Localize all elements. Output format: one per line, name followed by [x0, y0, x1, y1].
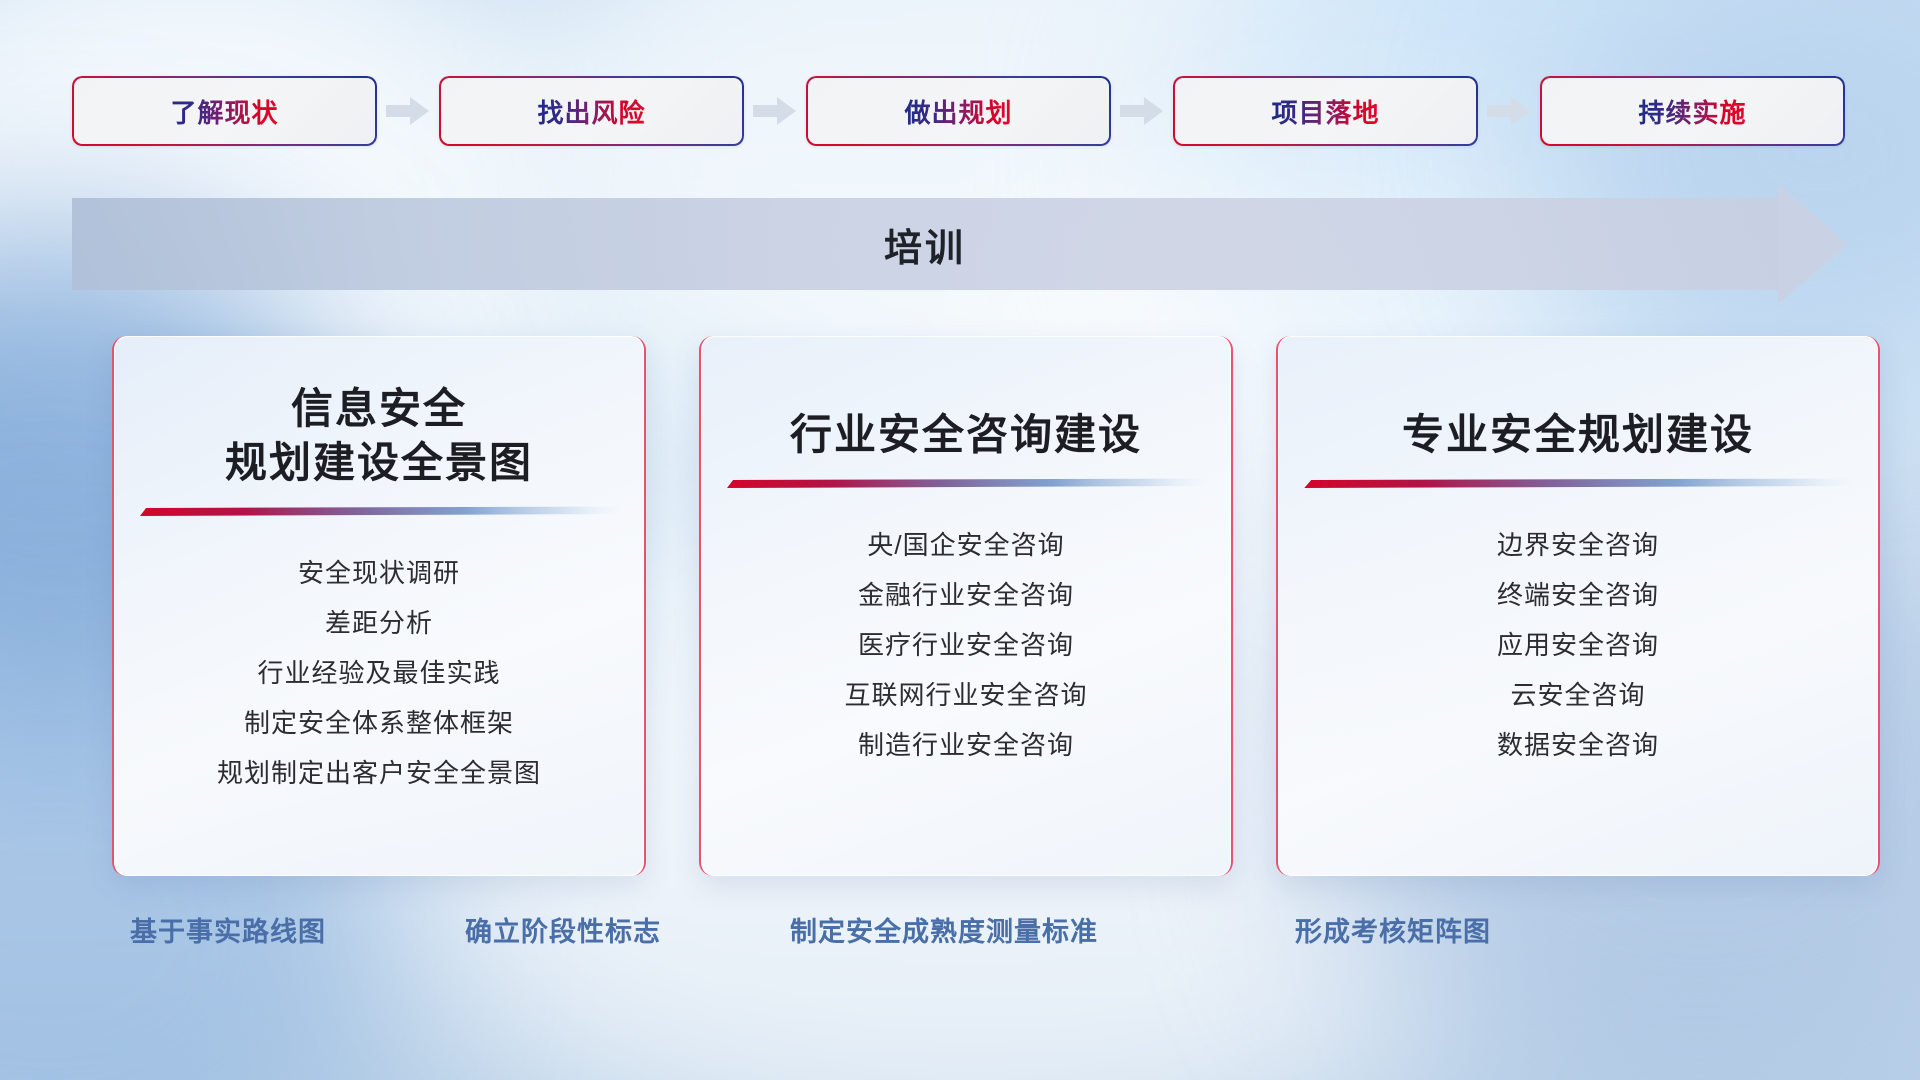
process-step-4[interactable]: 持续实施 [1540, 76, 1845, 146]
card-title: 行业安全咨询建设 [701, 336, 1231, 462]
gradient-divider-icon [1278, 462, 1878, 506]
card-title: 专业安全规划建设 [1278, 336, 1878, 462]
process-step-3[interactable]: 项目落地 [1173, 76, 1478, 146]
card-item-list: 央/国企安全咨询 金融行业安全咨询 医疗行业安全咨询 互联网行业安全咨询 制造行… [701, 506, 1231, 770]
card-information-security-blueprint[interactable]: 信息安全 规划建设全景图 安全现状调研 差 [112, 336, 646, 876]
process-step-label: 持续实施 [1638, 93, 1746, 130]
band-arrow-tip-icon [1778, 184, 1848, 304]
list-item: 央/国企安全咨询 [727, 520, 1205, 570]
bottom-label: 确立阶段性标志 [465, 910, 661, 949]
process-step-0[interactable]: 了解现状 [72, 76, 377, 146]
process-step-flow: 了解现状 找出风险 做出规划 项目落地 持续实施 [72, 76, 1848, 146]
card-professional-security-planning[interactable]: 专业安全规划建设 边界安全咨询 终端安全咨询 [1276, 336, 1880, 876]
process-step-label: 做出规划 [904, 93, 1012, 130]
card-title-line: 行业安全咨询建设 [719, 408, 1213, 462]
list-item: 云安全咨询 [1304, 670, 1852, 720]
arrow-right-icon [1478, 76, 1540, 146]
list-item: 规划制定出客户安全全景图 [140, 748, 618, 798]
list-item: 数据安全咨询 [1304, 720, 1852, 770]
process-step-1[interactable]: 找出风险 [439, 76, 744, 146]
arrow-right-icon [377, 76, 439, 146]
process-step-2[interactable]: 做出规划 [806, 76, 1111, 146]
list-item: 医疗行业安全咨询 [727, 620, 1205, 670]
bottom-label: 形成考核矩阵图 [1295, 910, 1491, 949]
process-step-label: 项目落地 [1271, 93, 1379, 130]
bottom-label: 制定安全成熟度测量标准 [790, 910, 1098, 949]
gradient-divider-icon [114, 490, 644, 534]
card-industry-security-consulting[interactable]: 行业安全咨询建设 央/国企安全咨询 金融行业安全咨询 [699, 336, 1233, 876]
card-title-line: 专业安全规划建设 [1296, 408, 1860, 462]
list-item: 边界安全咨询 [1304, 520, 1852, 570]
list-item: 差距分析 [140, 598, 618, 648]
card-title-line: 信息安全 [132, 382, 626, 436]
training-band-title: 培训 [72, 198, 1778, 290]
card-title: 信息安全 规划建设全景图 [114, 336, 644, 490]
list-item: 行业经验及最佳实践 [140, 648, 618, 698]
list-item: 互联网行业安全咨询 [727, 670, 1205, 720]
arrow-right-icon [744, 76, 806, 146]
list-item: 金融行业安全咨询 [727, 570, 1205, 620]
arrow-right-icon [1111, 76, 1173, 146]
training-band: 培训 [72, 198, 1848, 290]
process-step-label: 了解现状 [170, 93, 278, 130]
process-step-label: 找出风险 [537, 93, 645, 130]
gradient-divider-icon [701, 462, 1231, 506]
card-title-line: 规划建设全景图 [132, 436, 626, 490]
list-item: 终端安全咨询 [1304, 570, 1852, 620]
list-item: 应用安全咨询 [1304, 620, 1852, 670]
list-item: 制定安全体系整体框架 [140, 698, 618, 748]
card-item-list: 安全现状调研 差距分析 行业经验及最佳实践 制定安全体系整体框架 规划制定出客户… [114, 534, 644, 798]
bottom-label: 基于事实路线图 [130, 910, 326, 949]
bottom-label-row: 基于事实路线图 确立阶段性标志 制定安全成熟度测量标准 形成考核矩阵图 [0, 910, 1920, 970]
card-item-list: 边界安全咨询 终端安全咨询 应用安全咨询 云安全咨询 数据安全咨询 [1278, 506, 1878, 770]
card-row: 信息安全 规划建设全景图 安全现状调研 差 [0, 336, 1920, 876]
list-item: 安全现状调研 [140, 548, 618, 598]
list-item: 制造行业安全咨询 [727, 720, 1205, 770]
